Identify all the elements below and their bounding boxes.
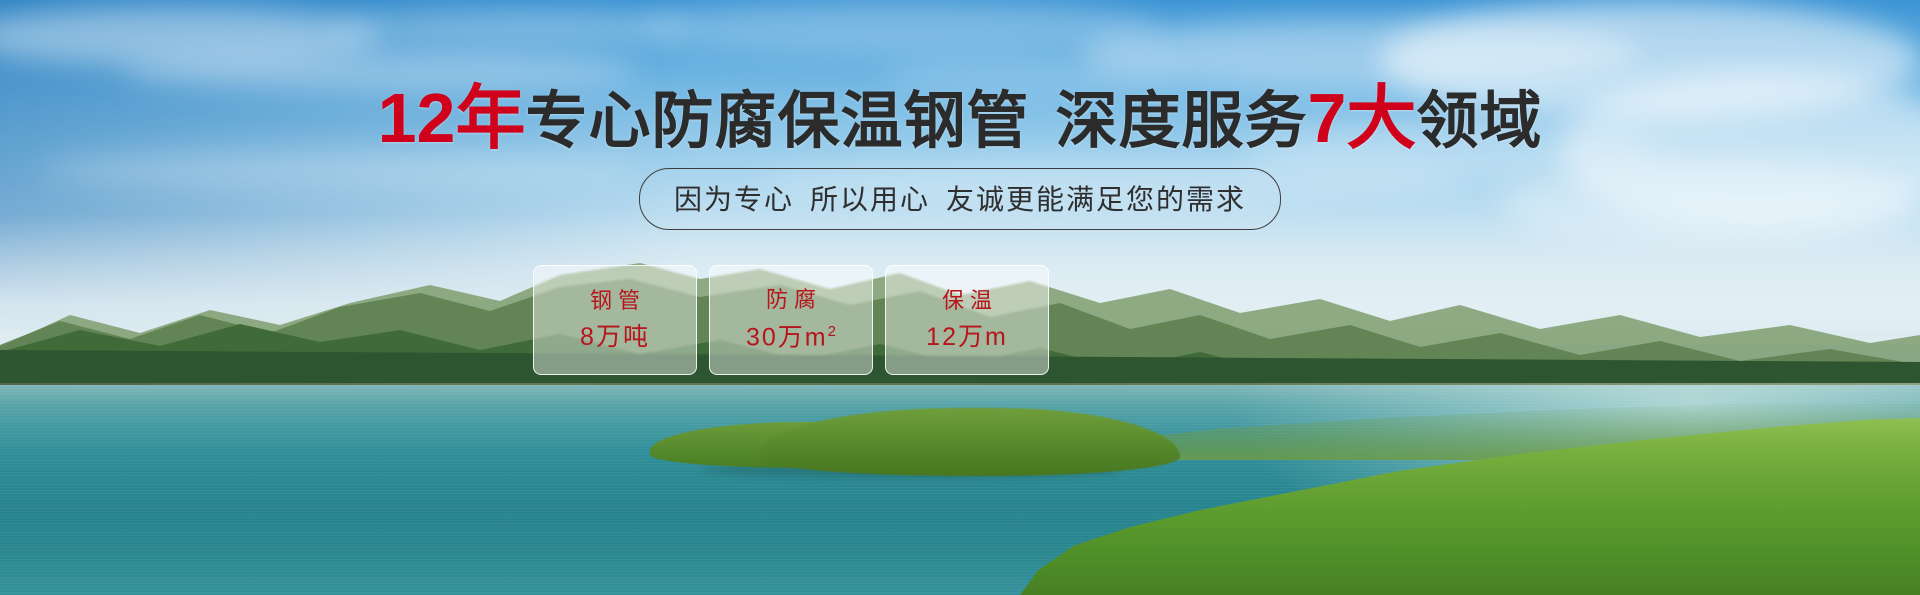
stat-card-value: 8万吨: [580, 325, 650, 350]
subtitle-part-1: 因为专心: [674, 184, 794, 215]
headline-tail-text: 领域: [1416, 87, 1542, 156]
cloud-shape: [640, 0, 1160, 54]
headline-main-text: 专心防腐保温钢管: [525, 87, 1029, 156]
stat-card-label: 保温: [936, 290, 998, 312]
stat-card-steel-pipe: 钢管 8万吨: [533, 265, 697, 375]
subtitle-container: 因为专心所以用心友诚更能满足您的需求: [0, 168, 1920, 230]
stat-value-superscript: 2: [828, 323, 836, 340]
stat-card-anticorrosion: 防腐 30万m2: [709, 265, 873, 375]
headline-accent-number: 7: [1307, 79, 1346, 157]
stat-value-text: 12万m: [926, 323, 1008, 351]
stat-value-text: 8万吨: [580, 323, 650, 351]
stat-value-text: 30万m: [746, 324, 828, 352]
stat-card-value: 12万m: [926, 325, 1008, 350]
subtitle-pill: 因为专心所以用心友诚更能满足您的需求: [639, 168, 1281, 230]
page-title: 12年专心防腐保温钢管深度服务7大领域: [0, 83, 1920, 153]
stat-card-value: 30万m2: [746, 324, 836, 350]
headline-lead-unit: 年: [455, 79, 525, 157]
stat-card-list: 钢管 8万吨 防腐 30万m2 保温 12万m: [533, 265, 1053, 375]
stat-card-insulation: 保温 12万m: [885, 265, 1049, 375]
subtitle-part-3: 友诚更能满足您的需求: [946, 184, 1246, 215]
cloud-shape: [330, 10, 690, 44]
headline-second-text: 深度服务: [1055, 87, 1307, 156]
headline-lead-number: 12: [378, 79, 456, 157]
stat-card-label: 钢管: [584, 290, 646, 312]
subtitle-part-2: 所以用心: [810, 184, 930, 215]
stat-card-label: 防腐: [760, 289, 822, 311]
headline-accent-unit: 大: [1346, 79, 1416, 157]
hero-banner: 12年专心防腐保温钢管深度服务7大领域 因为专心所以用心友诚更能满足您的需求 钢…: [0, 0, 1920, 595]
